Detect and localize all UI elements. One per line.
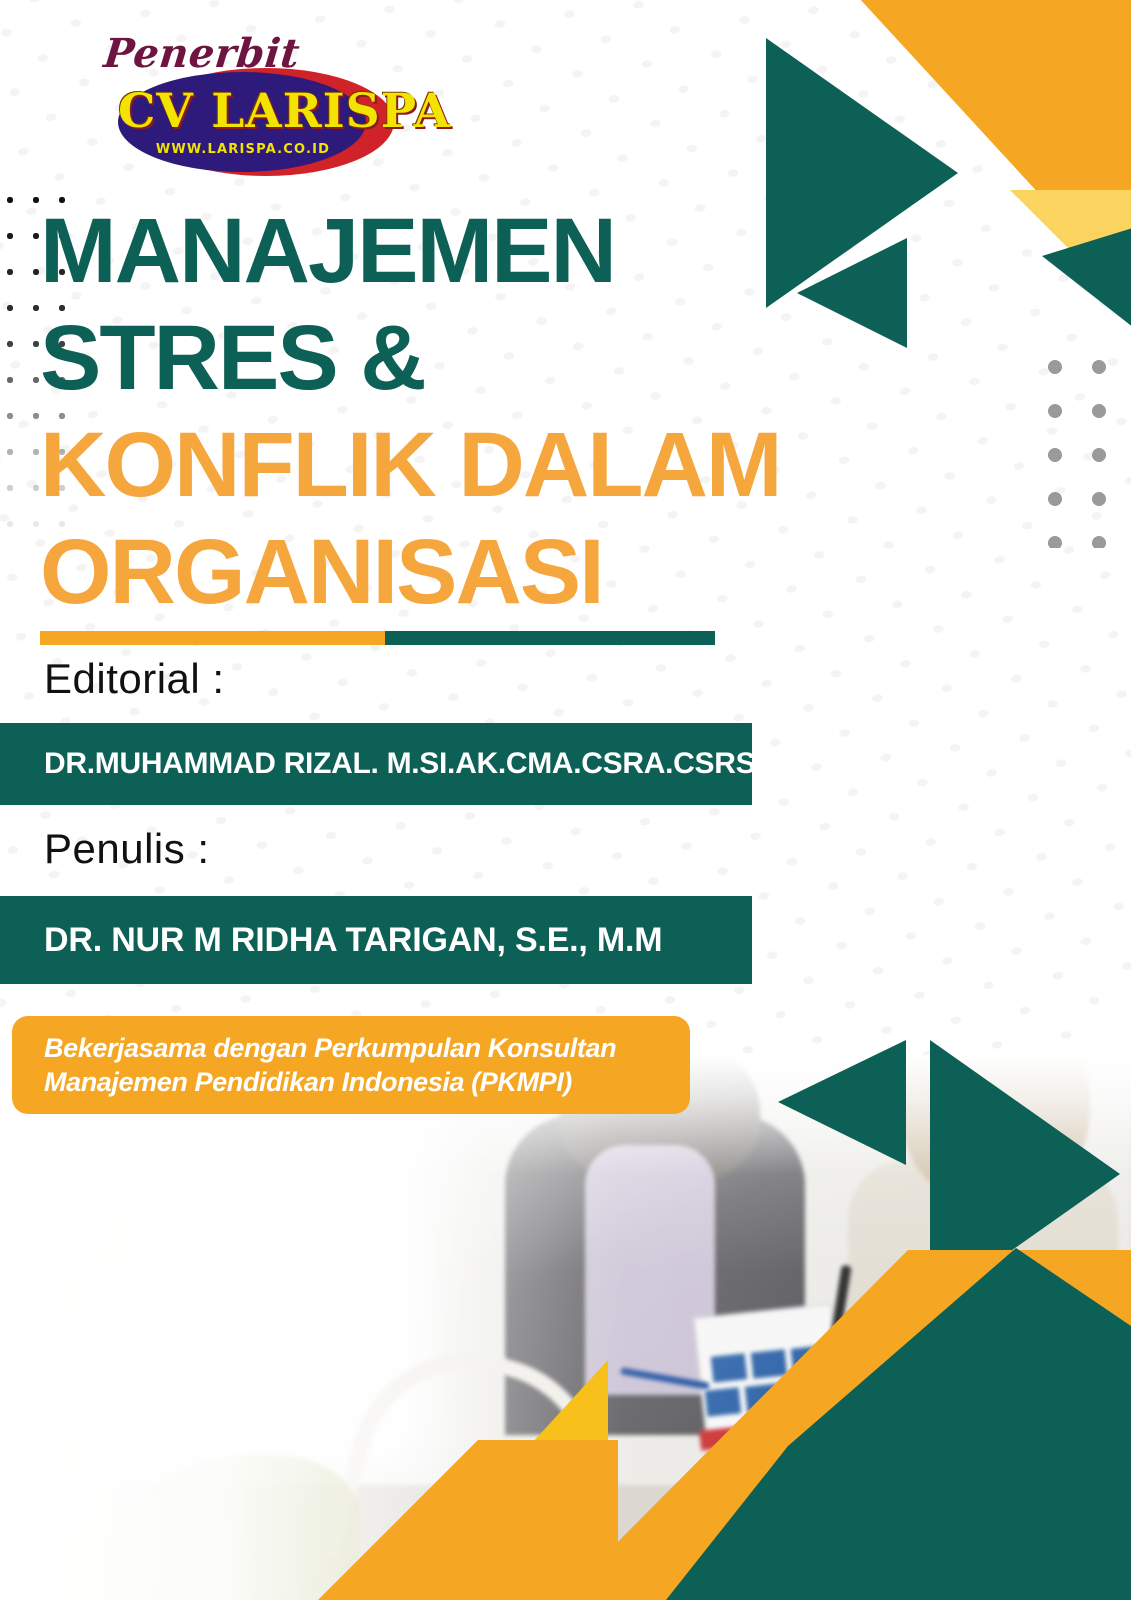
title-line-1: MANAJEMEN [40, 198, 800, 305]
book-title: MANAJEMEN STRES & KONFLIK DALAM ORGANISA… [40, 198, 800, 626]
logo-website-url: WWW.LARISPA.CO.ID [118, 142, 368, 157]
author-name-bar: DR. NUR M RIDHA TARIGAN, S.E., M.M [0, 896, 752, 984]
editorial-name-bar: DR.MUHAMMAD RIZAL. M.SI.AK.CMA.CSRA.CSRS [0, 723, 752, 805]
title-divider-bar [40, 631, 715, 645]
divider-teal-segment [385, 631, 715, 645]
partnership-line-2: Manajemen Pendidikan Indonesia (PKMPI) [12, 1065, 690, 1099]
author-name: DR. NUR M RIDHA TARIGAN, S.E., M.M [0, 921, 662, 960]
partnership-line-1: Bekerjasama dengan Perkumpulan Konsultan [12, 1031, 690, 1065]
logo-script-word: Penerbit [102, 30, 303, 77]
editorial-name: DR.MUHAMMAD RIZAL. M.SI.AK.CMA.CSRA.CSRS [0, 747, 755, 781]
publisher-logo: Penerbit CV LARISPA WWW.LARISPA.CO.ID [58, 26, 398, 186]
book-cover: Penerbit CV LARISPA WWW.LARISPA.CO.ID MA… [0, 0, 1131, 1600]
author-label: Penulis : [44, 825, 210, 873]
gray-dot-grid-decor [1046, 358, 1112, 548]
title-line-2: STRES & [40, 305, 800, 412]
title-line-3: KONFLIK DALAM [40, 412, 800, 519]
logo-publisher-name: CV LARISPA [118, 84, 388, 140]
divider-orange-segment [40, 631, 385, 645]
editorial-label: Editorial : [44, 655, 225, 703]
partnership-banner: Bekerjasama dengan Perkumpulan Konsultan… [12, 1016, 690, 1114]
title-line-4: ORGANISASI [40, 519, 800, 626]
